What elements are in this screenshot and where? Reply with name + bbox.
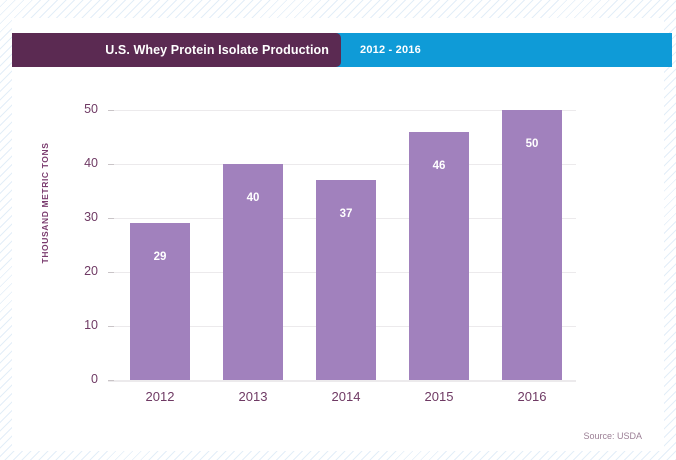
ytick-label-10: 10 <box>64 318 98 332</box>
bar-value-2012: 29 <box>130 251 190 263</box>
xtick-label-2014: 2014 <box>316 389 376 404</box>
ytick-mark-40 <box>108 164 114 165</box>
bar-chart-plot: THOUSAND METRIC TONS 50 40 30 20 10 0 29… <box>12 18 664 451</box>
ytick-label-30: 30 <box>64 210 98 224</box>
bar-value-2016: 50 <box>502 138 562 150</box>
bar-value-2014: 37 <box>316 208 376 220</box>
ytick-mark-10 <box>108 326 114 327</box>
ytick-mark-0 <box>108 380 114 381</box>
ytick-mark-50 <box>108 110 114 111</box>
source-note: Source: USDA <box>583 431 642 441</box>
ytick-label-20: 20 <box>64 264 98 278</box>
ytick-label-50: 50 <box>64 102 98 116</box>
x-axis-baseline <box>108 380 576 382</box>
ytick-mark-30 <box>108 218 114 219</box>
bar-value-2015: 46 <box>409 160 469 172</box>
y-axis-title: THOUSAND METRIC TONS <box>40 128 50 278</box>
ytick-label-40: 40 <box>64 156 98 170</box>
xtick-label-2016: 2016 <box>502 389 562 404</box>
ytick-label-0: 0 <box>64 372 98 386</box>
ytick-mark-20 <box>108 272 114 273</box>
xtick-label-2015: 2015 <box>409 389 469 404</box>
bar-2016[interactable] <box>502 110 562 380</box>
xtick-label-2013: 2013 <box>223 389 283 404</box>
bar-value-2013: 40 <box>223 192 283 204</box>
xtick-label-2012: 2012 <box>130 389 190 404</box>
chart-card: U.S. Whey Protein Isolate Production 201… <box>12 18 664 451</box>
bar-2012[interactable] <box>130 223 190 380</box>
